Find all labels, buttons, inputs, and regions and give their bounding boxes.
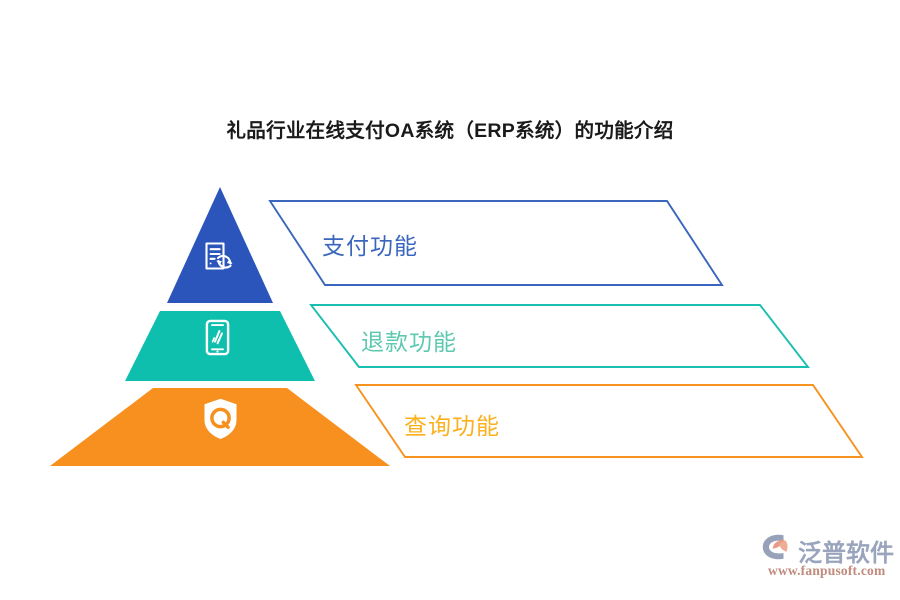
slide-canvas: 礼品行业在线支付OA系统（ERP系统）的功能介绍 xyxy=(0,0,900,600)
callout-band-refund-label: 退款功能 xyxy=(361,323,457,357)
pyramid-tier-query[interactable] xyxy=(50,388,390,466)
callout-band-query-label: 查询功能 xyxy=(404,407,500,441)
watermark-url: www.fanpusoft.com xyxy=(768,563,885,579)
pyramid-diagram xyxy=(0,0,900,600)
pyramid-tier-payment-shape xyxy=(167,187,273,303)
fanpu-c-logo-icon xyxy=(762,534,796,560)
callout-band-payment-label: 支付功能 xyxy=(322,227,418,261)
pyramid-tier-refund[interactable] xyxy=(125,311,315,381)
watermark-logo: 泛普软件 www.fanpusoft.com xyxy=(762,532,892,584)
pyramid-tier-payment[interactable] xyxy=(167,187,273,303)
